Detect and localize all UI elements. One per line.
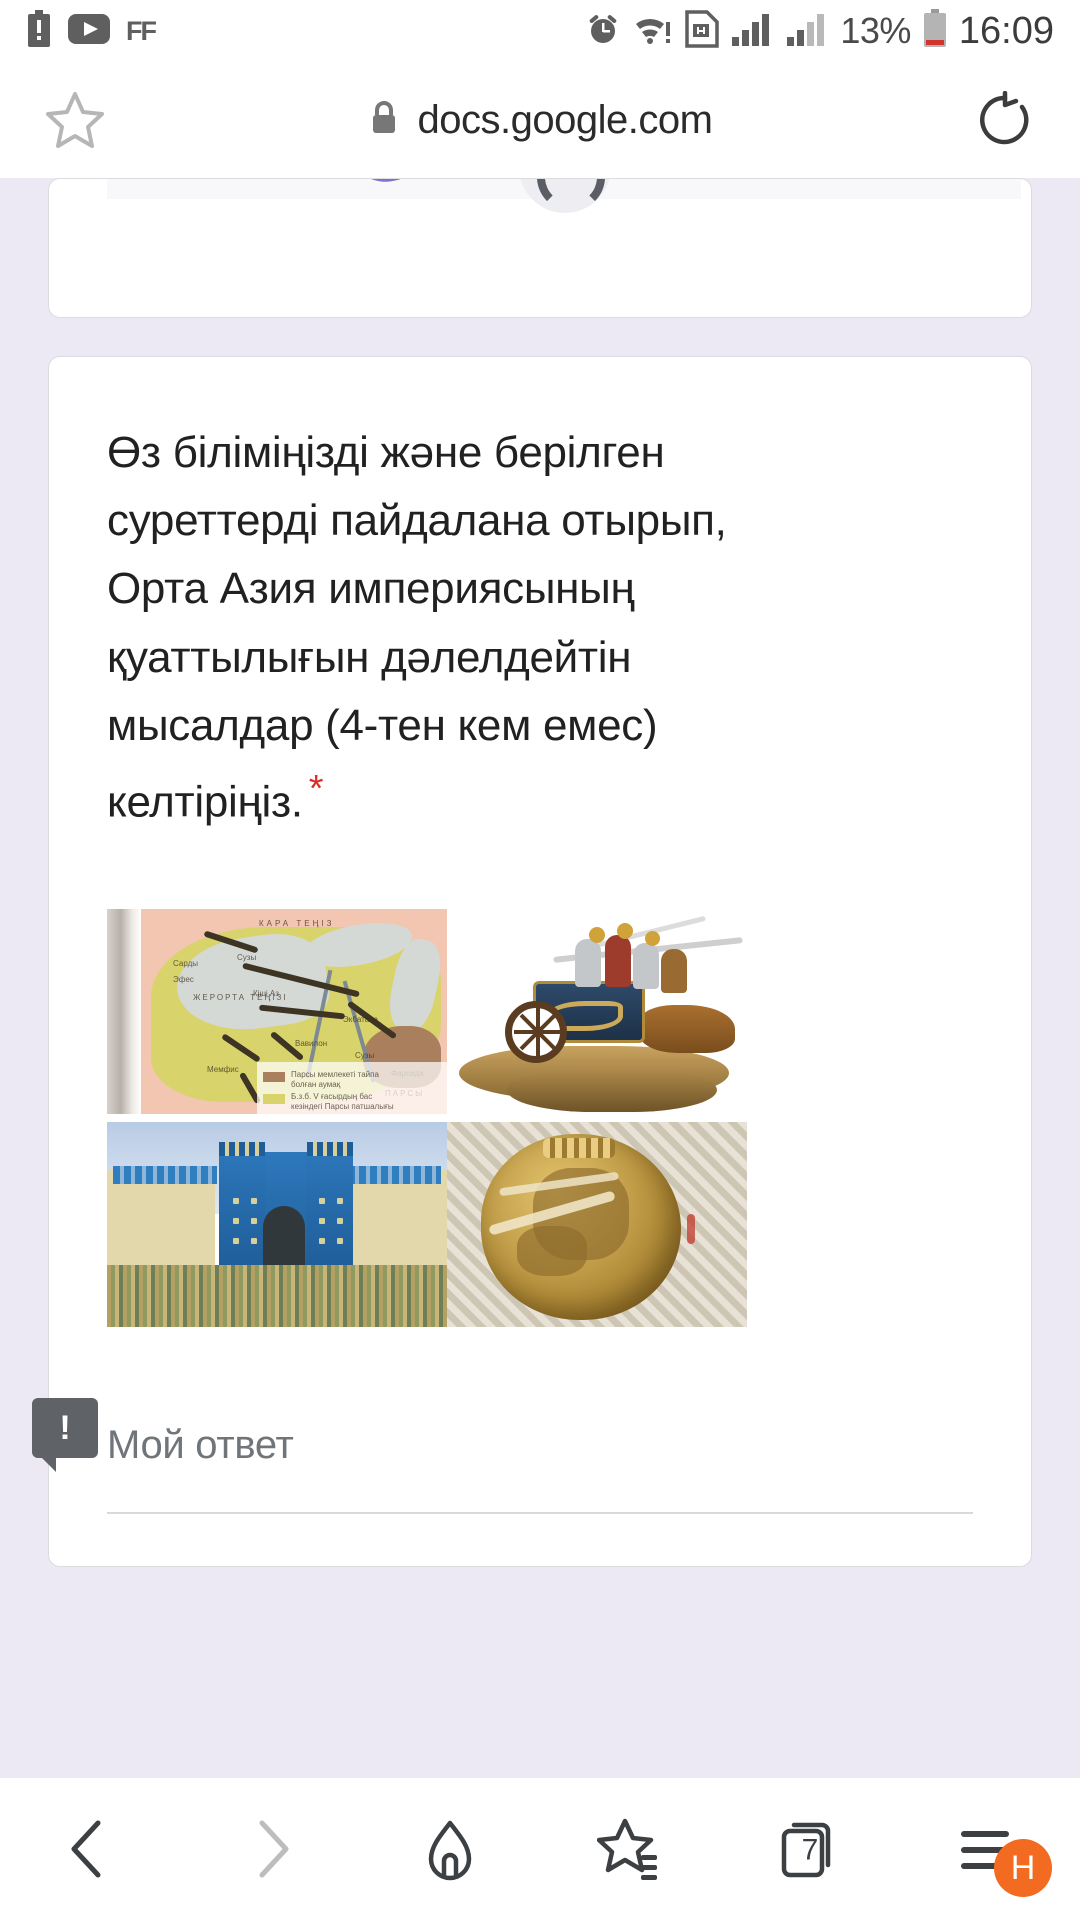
error-exclamation-icon: ! xyxy=(59,1411,70,1445)
reload-button[interactable] xyxy=(930,91,1080,149)
question-image-grid: КАРА ТЕҢІЗ Сарды Эфес Сузы ЖЕРОРТА ТЕҢІЗ… xyxy=(107,909,747,1327)
alarm-icon xyxy=(585,11,621,52)
status-bar-left: FF xyxy=(26,10,155,53)
clock-time: 16:09 xyxy=(959,10,1054,53)
tab-count-label: 7 xyxy=(802,1833,819,1867)
gold-daric-coin-image xyxy=(447,1122,747,1327)
question-text: Өз біліміңізді және берілген суреттерді … xyxy=(107,428,727,827)
ghost-avatar-icon xyxy=(519,178,611,213)
required-asterisk: * xyxy=(309,768,324,810)
ghost-text: ʌ xyxy=(181,178,241,189)
answer-underline xyxy=(107,1512,973,1514)
question-title: Өз біліміңізді және берілген суреттерді … xyxy=(107,419,727,837)
status-bar-right: 13% 16:09 xyxy=(585,9,1054,54)
back-button[interactable] xyxy=(0,1817,180,1881)
bookmark-star-button[interactable] xyxy=(0,90,150,150)
golden-chariot-model-image xyxy=(447,909,747,1114)
home-button[interactable] xyxy=(360,1817,540,1881)
url-field[interactable]: docs.google.com xyxy=(150,98,930,143)
map-of-persian-empire-image: КАРА ТЕҢІЗ Сарды Эфес Сузы ЖЕРОРТА ТЕҢІЗ… xyxy=(107,909,447,1114)
battery-low-icon xyxy=(922,9,948,54)
answer-input[interactable]: Мой ответ xyxy=(107,1423,973,1468)
browser-url-bar: docs.google.com xyxy=(0,62,1080,178)
signal-bars-icon xyxy=(730,11,774,52)
previous-question-card[interactable]: ʌ xyxy=(48,178,1032,318)
sim-h-icon xyxy=(685,10,719,53)
image-row-bottom xyxy=(107,1122,747,1327)
battery-alert-icon xyxy=(26,10,52,53)
forward-button[interactable] xyxy=(180,1817,360,1881)
url-text: docs.google.com xyxy=(418,98,713,143)
signal-bars-2-icon xyxy=(785,11,829,52)
browser-bottom-nav: 7 Н xyxy=(0,1778,1080,1920)
page-content[interactable]: ʌ Өз біліміңізді және берілген суреттерд… xyxy=(0,178,1080,1778)
phone-screen: FF 13% 16:09 xyxy=(0,0,1080,1920)
wifi-alert-icon xyxy=(632,12,674,51)
answer-field-wrap[interactable]: Мой ответ xyxy=(107,1423,973,1514)
question-card[interactable]: Өз біліміңізді және берілген суреттерді … xyxy=(48,356,1032,1567)
tabs-button[interactable]: 7 xyxy=(720,1817,900,1881)
ff-label: FF xyxy=(126,16,155,47)
image-row-top: КАРА ТЕҢІЗ Сарды Эфес Сузы ЖЕРОРТА ТЕҢІЗ… xyxy=(107,909,747,1114)
battery-percent: 13% xyxy=(840,10,911,52)
menu-button[interactable]: Н xyxy=(900,1817,1080,1881)
bookmarks-button[interactable] xyxy=(540,1817,720,1881)
status-bar: FF 13% 16:09 xyxy=(0,0,1080,62)
validation-error-tooltip[interactable]: ! xyxy=(32,1398,98,1458)
map-legend: Парсы мемлекеті тайпа болған аумақ Б.з.б… xyxy=(257,1062,447,1114)
ishtar-gate-babylon-image xyxy=(107,1122,447,1327)
lock-icon xyxy=(368,99,400,142)
youtube-icon xyxy=(68,14,110,49)
menu-profile-badge: Н xyxy=(994,1839,1052,1897)
